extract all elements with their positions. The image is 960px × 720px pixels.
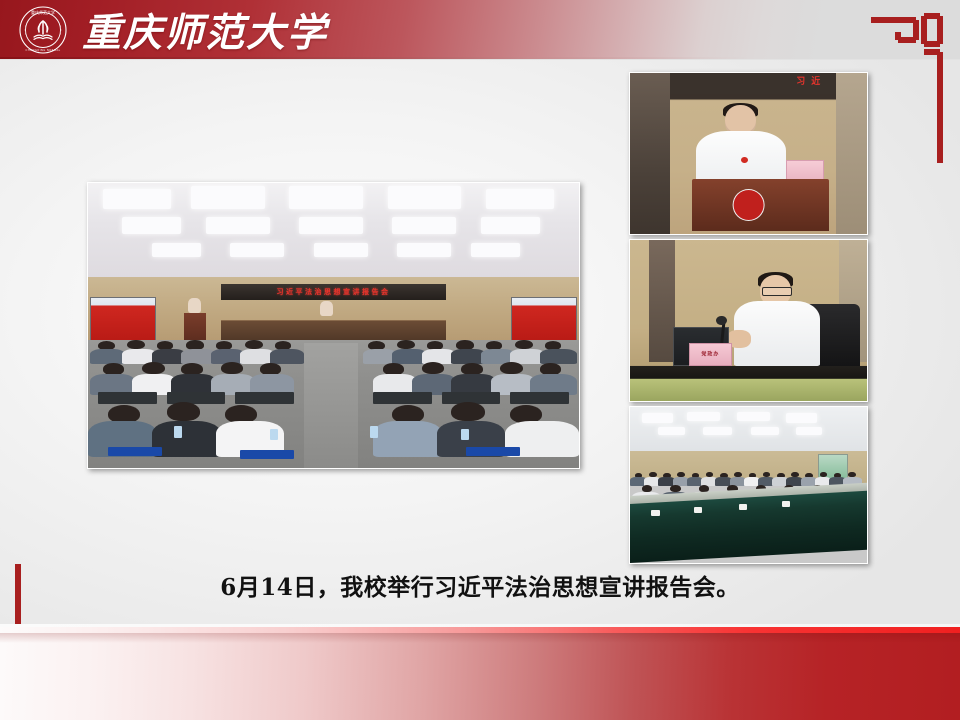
conference-hall-scene: 习近平法治思想宣讲报告会 xyxy=(88,183,579,468)
table-speaker-scene: 党政办 xyxy=(630,240,867,401)
head-table xyxy=(630,366,867,401)
slide-canvas: 重庆师范大学 CHONGQING NORMAL xyxy=(0,0,960,720)
desk-nameplate-center xyxy=(240,450,294,459)
decorative-corner-bracket-top-right xyxy=(868,8,948,168)
table-nameplate: 党政办 xyxy=(689,343,731,366)
podium-speaker-scene: 习近 xyxy=(630,73,867,234)
glasses-icon xyxy=(762,287,792,295)
bottom-band-inner-shadow xyxy=(0,633,960,643)
green-skirted-table xyxy=(630,490,867,563)
speaker-at-table-photo[interactable]: 党政办 xyxy=(629,239,868,402)
hall-banner-text: 习近平法治思想宣讲报告会 xyxy=(221,284,447,299)
audience-front-view-photo[interactable] xyxy=(629,406,868,564)
header-band: 重庆师范大学 CHONGQING NORMAL xyxy=(0,0,960,59)
desk-nameplate-left xyxy=(108,447,162,456)
university-name-title: 重庆师范大学 xyxy=(82,2,328,58)
bottom-band-fill xyxy=(0,633,960,720)
svg-text:CHONGQING NORMAL: CHONGQING NORMAL xyxy=(26,48,61,52)
conference-hall-wide-photo[interactable]: 习近平法治思想宣讲报告会 xyxy=(87,182,580,469)
podium-backdrop-band: 习近 xyxy=(670,73,836,94)
desk-nameplate-right xyxy=(466,447,520,456)
svg-text:重庆师范大学: 重庆师范大学 xyxy=(31,9,55,15)
microphone-icon xyxy=(716,316,727,326)
audience-crowd xyxy=(88,337,579,468)
speaker-at-podium-photo[interactable]: 习近 xyxy=(629,72,868,235)
podium-document-card xyxy=(786,160,824,181)
audience-front-scene xyxy=(630,407,867,563)
chongqing-normal-university-emblem-icon: 重庆师范大学 CHONGQING NORMAL xyxy=(19,6,67,54)
slide-caption: 6月14日，我校举行习近平法治思想宣讲报告会。 xyxy=(0,568,960,602)
bottom-decorative-band xyxy=(0,627,960,720)
podium-university-emblem-icon xyxy=(732,189,765,222)
